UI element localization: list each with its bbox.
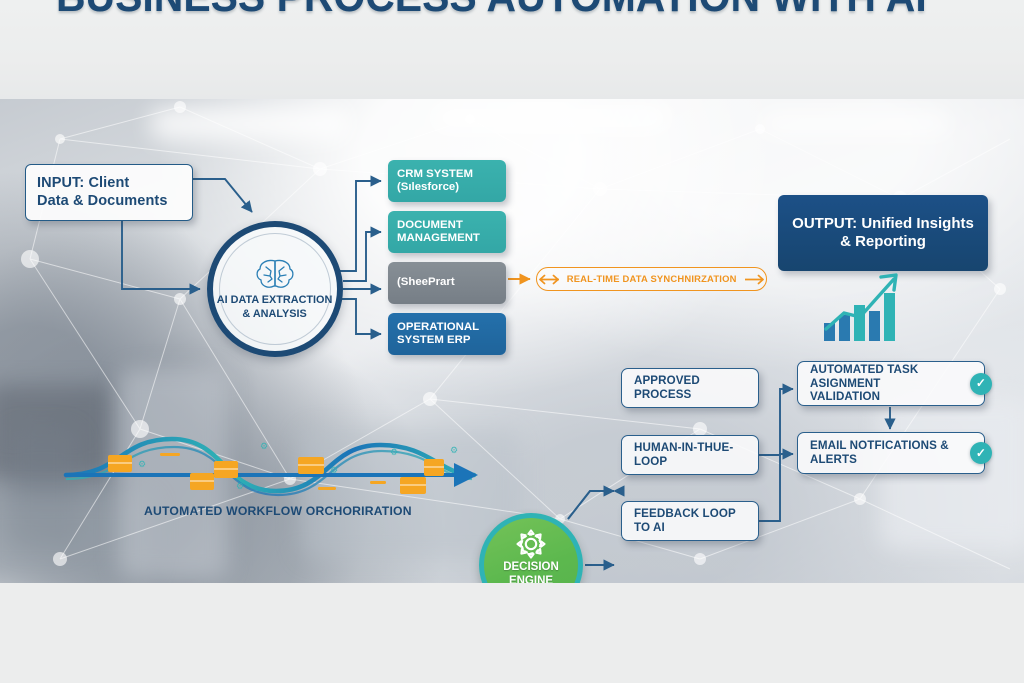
- background-blur-right: [880, 399, 1024, 549]
- workflow-label: AUTOMATED WORKFLOW ORCHORIRATION: [144, 504, 412, 518]
- doc-line-1: DOCUMENT: [397, 219, 497, 232]
- svg-text:⚙: ⚙: [260, 441, 268, 451]
- input-line-1: INPUT: Client: [37, 175, 181, 192]
- email-alerts-label: EMAIL NOTFICATIONS & ALERTS: [810, 439, 972, 466]
- ai-label-line-1: AI DATA EXTRACTION: [217, 293, 333, 307]
- erp-line-2: SYSTEM ERP: [397, 334, 497, 347]
- ai-label-line-2: & ANALYSIS: [217, 307, 333, 321]
- growth-bar-chart-icon: [822, 271, 906, 343]
- outcome-approved-process[interactable]: APPROVED PROCESS: [621, 368, 759, 408]
- ai-node-label: AI DATA EXTRACTION & ANALYSIS: [217, 293, 333, 321]
- action-email-alerts[interactable]: EMAIL NOTFICATIONS & ALERTS ✓: [797, 432, 985, 474]
- svg-text:⚙: ⚙: [390, 447, 398, 457]
- crm-line-1: CRM SYSTEM: [397, 168, 497, 181]
- task-validation-line-1: AUTOMATED TASK ASIGNMENT: [810, 363, 972, 390]
- check-icon: ✓: [970, 442, 992, 464]
- task-validation-line-2: VALIDATION: [810, 390, 972, 404]
- decision-line-1: DECISION: [503, 561, 559, 575]
- system-box-document-management[interactable]: DOCUMENT MANAGEMENT: [388, 211, 506, 253]
- feedback-loop-label: FEEDBACK LOOP TO AI: [634, 507, 746, 534]
- sharepoint-line-1: (SheePrart: [397, 276, 497, 289]
- svg-text:⚙: ⚙: [330, 465, 338, 475]
- background-blur-ceiling-light-3: [760, 111, 950, 137]
- output-line-2: & Reporting: [840, 233, 926, 251]
- outcome-feedback-loop[interactable]: FEEDBACK LOOP TO AI: [621, 501, 759, 541]
- arrow-right-icon: [745, 274, 764, 285]
- decision-line-2: ENGINE: [503, 575, 559, 583]
- input-line-2: Data & Documents: [37, 193, 181, 210]
- output-line-1: OUTPUT: Unified Insights: [792, 215, 974, 233]
- decision-engine-label: DECISION ENGINE (AI/ML): [503, 561, 559, 583]
- output-node[interactable]: OUTPUT: Unified Insights & Reporting: [778, 195, 988, 271]
- double-arrow-icon: [539, 274, 559, 285]
- gear-icon: [514, 528, 548, 560]
- page-title: BUSINESS PROCESS AUTOMATION WITH AI: [56, 0, 927, 22]
- bottom-band: [0, 583, 1024, 683]
- background-blur-ceiling-light-1: [150, 107, 350, 141]
- approved-process-label: APPROVED PROCESS: [634, 374, 746, 401]
- erp-line-1: OPERATIONAL: [397, 321, 497, 334]
- crm-line-2: (Sılesforce): [397, 181, 497, 194]
- background-blur-ceiling-light-2: [430, 103, 670, 133]
- system-box-erp[interactable]: OPERATIONAL SYSTEM ERP: [388, 313, 506, 355]
- svg-text:⚙: ⚙: [138, 459, 146, 469]
- sync-label: REAL-TIME DATA SYNCHNIRZATION: [567, 274, 737, 285]
- system-box-sharepoint[interactable]: (SheePrart: [388, 262, 506, 304]
- ai-data-extraction-node[interactable]: AI DATA EXTRACTION & ANALYSIS: [207, 221, 343, 357]
- action-task-validation[interactable]: AUTOMATED TASK ASIGNMENT VALIDATION ✓: [797, 361, 985, 406]
- doc-line-2: MANAGEMENT: [397, 232, 497, 245]
- ai-node-inner-ring: [219, 233, 331, 345]
- infographic-canvas: INPUT: Client Data & Documents AI DATA E…: [0, 99, 1024, 583]
- check-icon: ✓: [970, 373, 992, 395]
- real-time-sync-pill[interactable]: REAL-TIME DATA SYNCHNIRZATION: [536, 267, 767, 291]
- svg-text:⚙: ⚙: [236, 481, 244, 491]
- svg-text:⚙: ⚙: [450, 445, 458, 455]
- outcome-human-in-the-loop[interactable]: HUMAN-IN-THUE-LOOP: [621, 435, 759, 475]
- title-band: BUSINESS PROCESS AUTOMATION WITH AI: [0, 0, 1024, 99]
- system-box-crm[interactable]: CRM SYSTEM (Sılesforce): [388, 160, 506, 202]
- input-node[interactable]: INPUT: Client Data & Documents: [25, 164, 193, 221]
- human-in-the-loop-label: HUMAN-IN-THUE-LOOP: [634, 441, 746, 468]
